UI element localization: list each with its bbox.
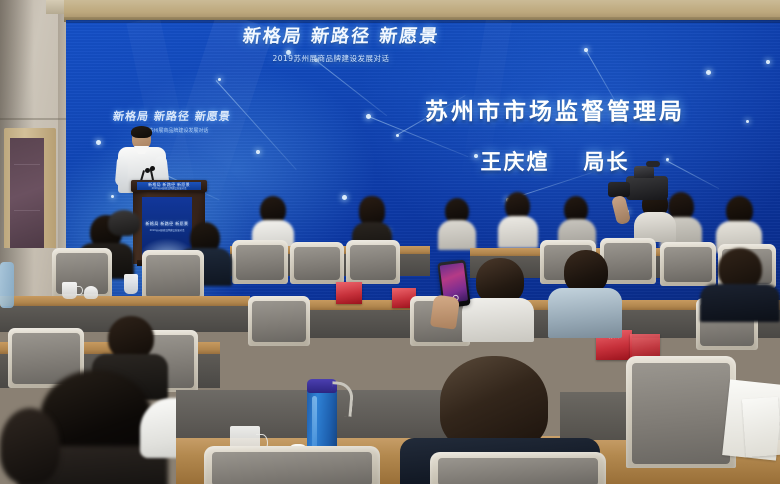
speaker-hair xyxy=(131,126,152,138)
star xyxy=(706,70,711,75)
teapot xyxy=(124,274,138,294)
headline-side-line1: 新格局 新路径 新愿景 xyxy=(87,108,257,124)
audience-person xyxy=(438,198,476,248)
chair-cushion xyxy=(632,363,730,464)
headline-line1: 新格局 新路径 新愿景 xyxy=(241,22,420,48)
water-bottle-strap xyxy=(330,381,355,417)
star xyxy=(218,78,221,81)
video-camera-lens xyxy=(608,182,630,197)
video-camera-viewfinder xyxy=(634,166,654,178)
card-face xyxy=(336,282,362,304)
audience-person-filming xyxy=(462,258,534,338)
chair-cushion xyxy=(212,452,372,484)
video-camera-body xyxy=(626,176,668,200)
tea-cup-handle xyxy=(76,286,83,295)
chair-cushion xyxy=(294,247,340,280)
chair[interactable] xyxy=(290,242,344,284)
headline-line2: 2019苏州展商品牌建设发展对话 xyxy=(243,53,419,64)
podium-banner: 新格局 新路径 新愿景 2019苏州展商品牌建设发展对话 xyxy=(137,182,201,190)
chair[interactable] xyxy=(142,250,204,302)
person-torso xyxy=(462,298,534,342)
audience-person xyxy=(700,248,780,318)
chair[interactable] xyxy=(626,356,736,468)
chair-cushion xyxy=(438,458,598,484)
video-camera-microphone xyxy=(646,161,660,167)
audience-person xyxy=(252,196,294,246)
chair[interactable] xyxy=(232,240,288,284)
tea-cup xyxy=(62,282,77,299)
podium-banner-line2: 2019苏州展商品牌建设发展对话 xyxy=(137,187,201,190)
audience-person xyxy=(548,250,622,336)
star xyxy=(766,60,770,64)
foreground-shoulder xyxy=(0,408,60,484)
speaker-name: 王庆煊 xyxy=(481,150,550,174)
star xyxy=(256,150,260,154)
podium-top: 新格局 新路径 新愿景 2019苏州展商品牌建设发展对话 xyxy=(131,180,207,192)
star xyxy=(366,114,371,119)
person-torso xyxy=(700,284,780,322)
person-torso xyxy=(438,220,476,250)
screen-headline-side: 新格局 新路径 新愿景 2019苏州展商品牌建设发展对话 xyxy=(88,108,256,134)
water-bottle xyxy=(0,262,14,308)
hand-holding-phone xyxy=(430,294,460,329)
star xyxy=(342,195,347,200)
star xyxy=(111,195,114,198)
star xyxy=(584,48,588,52)
conference-photo-scene: 新格局 新路径 新愿景 2019苏州展商品牌建设发展对话 新格局 新路径 新愿景… xyxy=(0,0,780,484)
speaker-organization: 苏州市市场监督管理局 xyxy=(395,92,715,126)
screen-top-edge xyxy=(66,20,780,23)
person-torso xyxy=(548,288,622,338)
videographer xyxy=(612,160,692,240)
table-name-card xyxy=(336,282,362,304)
door-panel xyxy=(10,138,44,248)
chair[interactable] xyxy=(248,296,310,346)
star xyxy=(746,120,749,123)
chair-cushion xyxy=(252,301,306,342)
chair-cushion xyxy=(236,245,284,280)
paper-document xyxy=(742,397,780,457)
chair[interactable] xyxy=(204,446,380,484)
screen-headline-main: 新格局 新路径 新愿景 2019苏州展商品牌建设发展对话 xyxy=(243,22,419,64)
headline-side-line2: 2019苏州展商品牌建设发展对话 xyxy=(88,127,256,134)
chair-cushion xyxy=(350,245,396,280)
constellation-line xyxy=(316,60,388,116)
chair[interactable] xyxy=(430,452,606,484)
chair[interactable] xyxy=(346,240,400,284)
headphone-blur xyxy=(108,210,140,236)
star xyxy=(96,140,101,145)
person-torso xyxy=(498,216,538,248)
tea-cup-lid xyxy=(84,286,98,299)
microphone-head-right xyxy=(150,166,155,171)
chair-cushion xyxy=(146,255,200,298)
audience-person xyxy=(498,192,538,246)
